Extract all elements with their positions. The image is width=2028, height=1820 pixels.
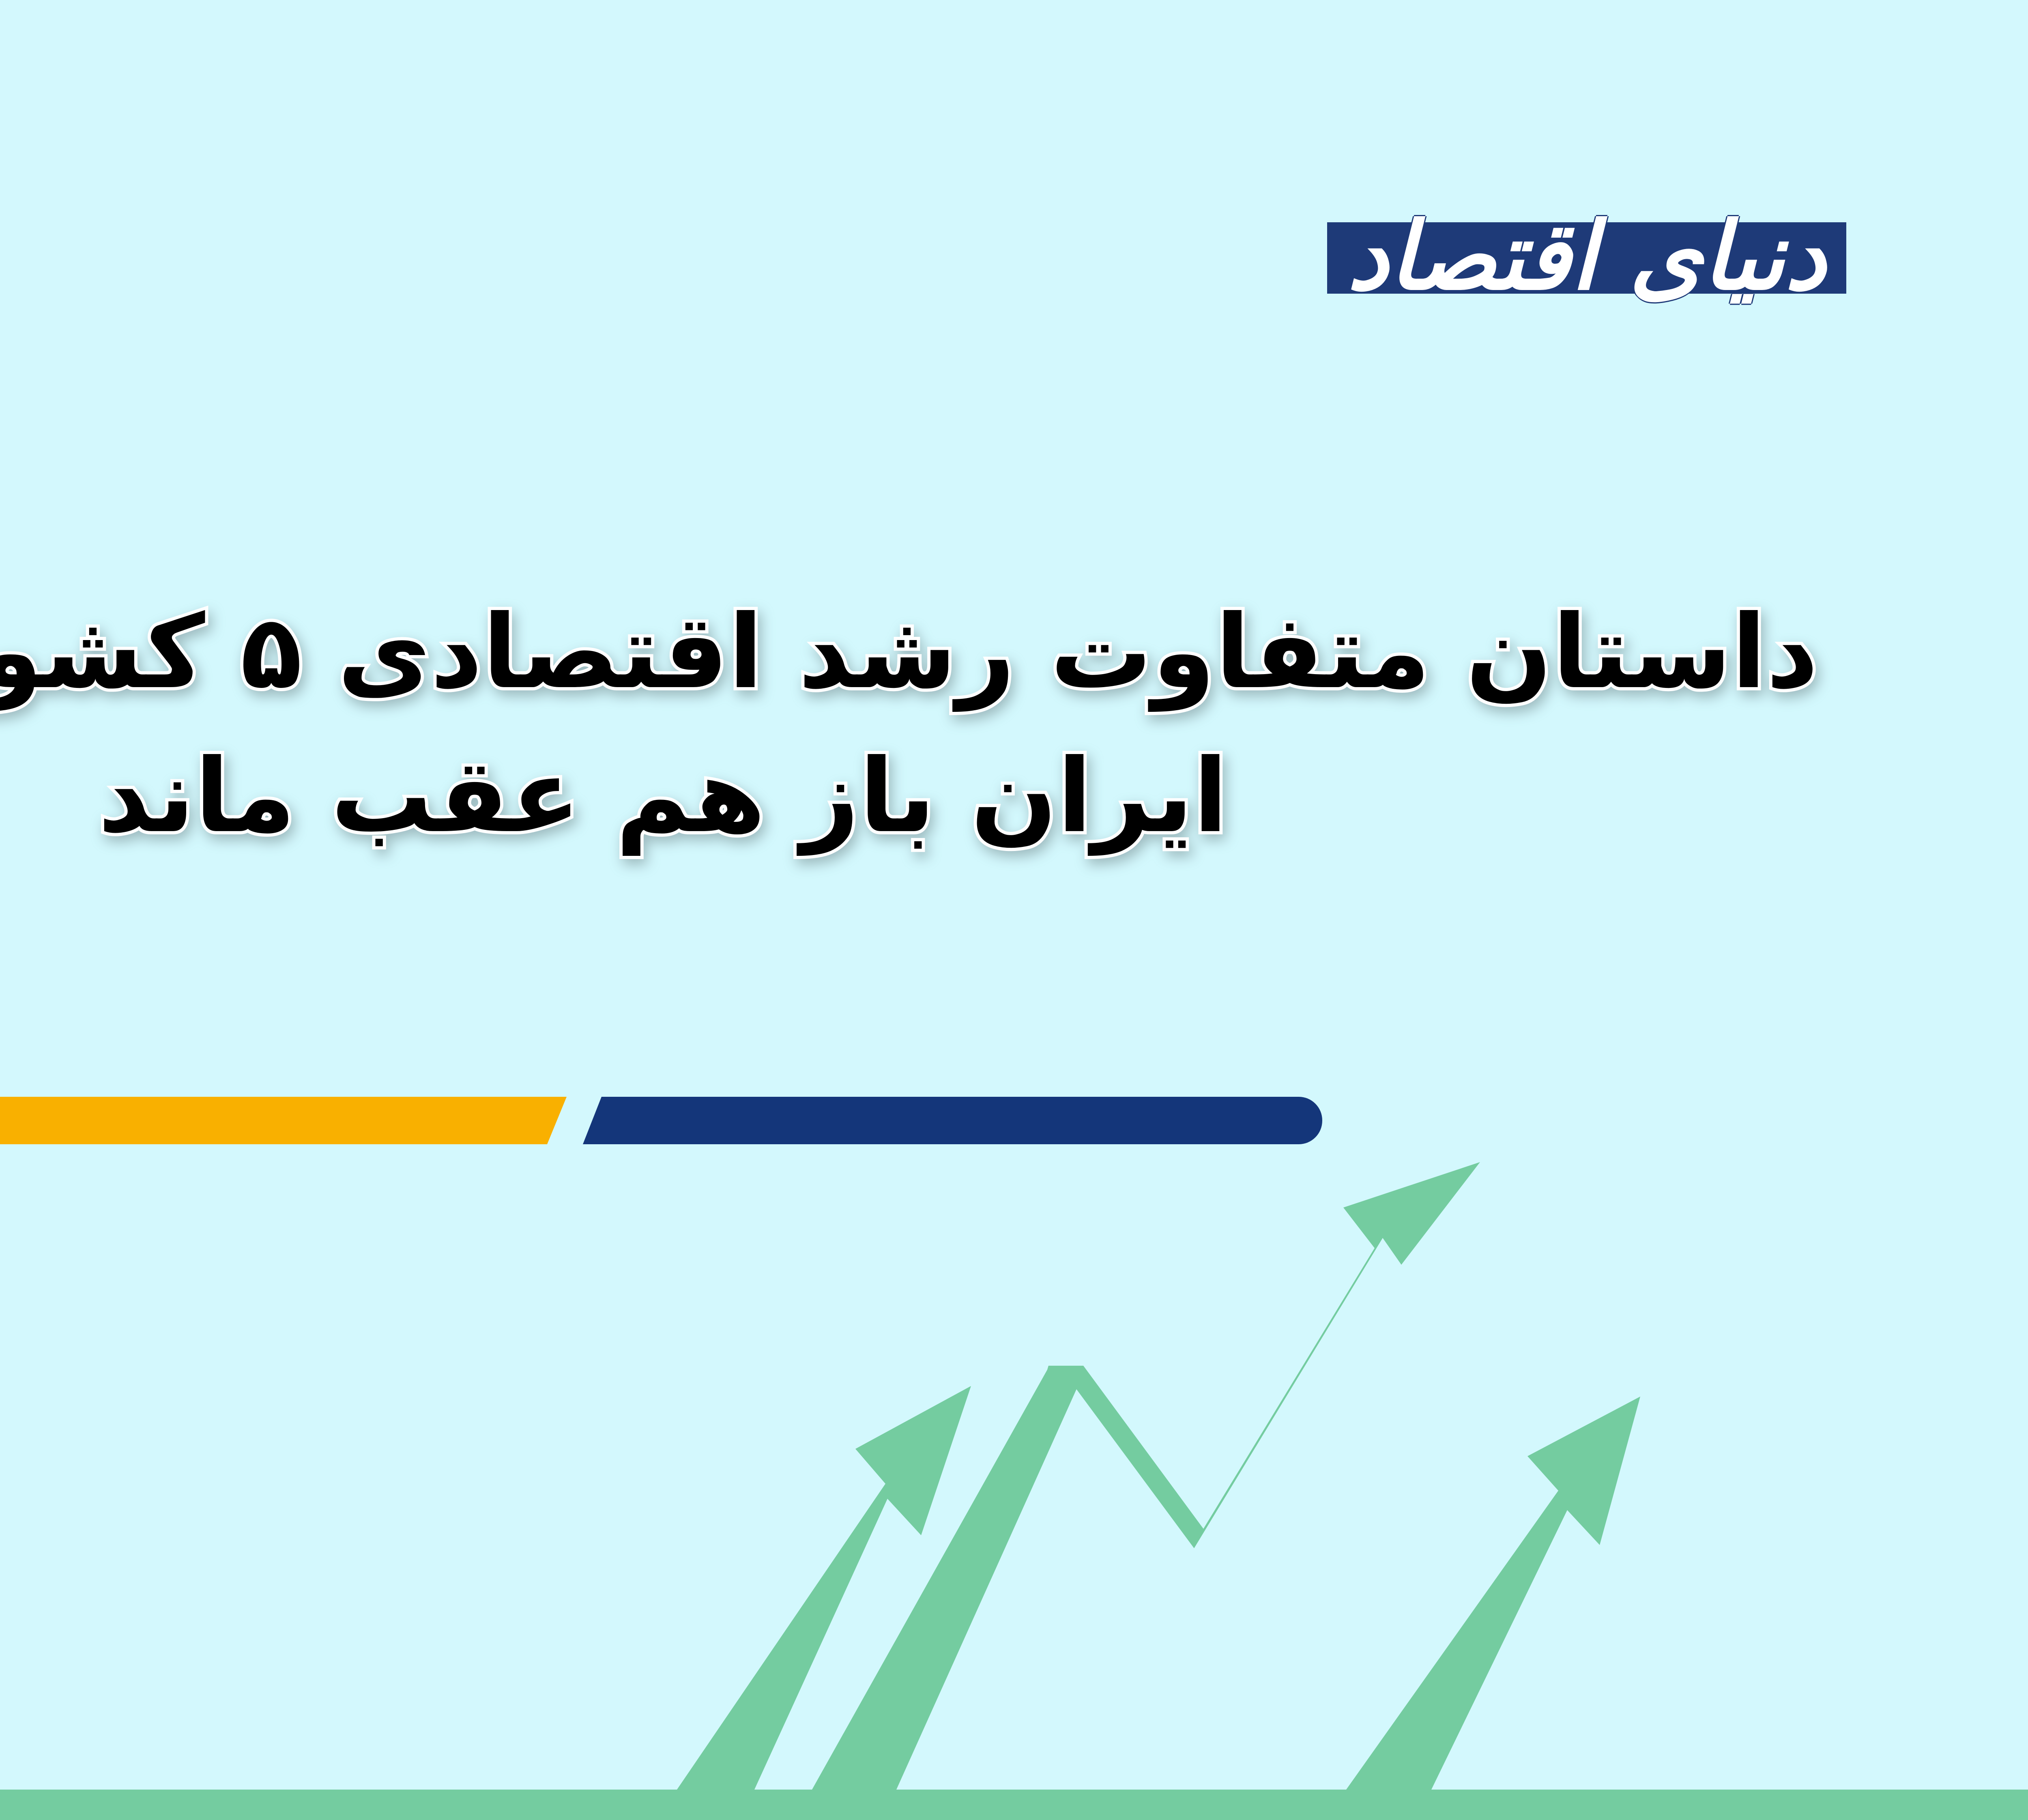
arrow-right (1346, 1397, 1640, 1790)
masthead-label: دنیای اقتصاد (1327, 209, 1846, 303)
growth-arrows-illustration (0, 1086, 2028, 1820)
growth-arrows-svg (0, 1086, 2028, 1820)
headline-line-2: ایران باز هم عقب ماند (0, 724, 2028, 868)
headline-line-1: داستان متفاوت رشد اقتصادی ۵ کشور منطقه؛ (0, 580, 2028, 724)
baseline-bar (0, 1790, 2028, 1820)
page-title: داستان متفاوت رشد اقتصادی ۵ کشور منطقه؛ … (0, 580, 2028, 868)
donya-e-eqtesad-masthead[interactable]: دنیای اقتصاد (1327, 222, 1846, 294)
social-card: جمعه دنیای اقتصاد دنیای اقتصاد داستان مت… (0, 0, 2028, 1820)
